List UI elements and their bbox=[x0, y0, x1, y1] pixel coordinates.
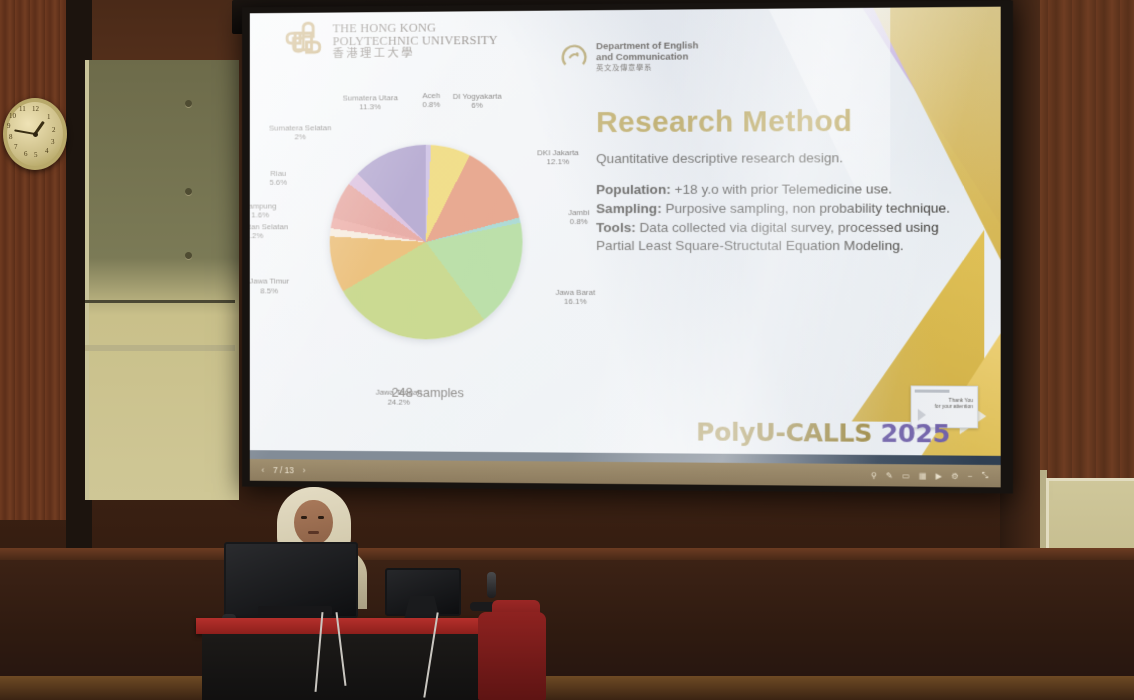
slide-bullet: Sampling: Purposive sampling, non probab… bbox=[596, 199, 978, 218]
slide-control-bar[interactable]: ‹ 7 / 13 › ⚲✎▭▦▶⚙−⤡ bbox=[250, 459, 1001, 487]
pie-chart: Aceh0.8%DI Yogyakarta6%DKI Jakarta12.1%J… bbox=[265, 96, 590, 426]
dept-wordmark: Department of English and Communication … bbox=[596, 41, 698, 73]
next-slide-icon[interactable]: › bbox=[303, 465, 306, 475]
brand-purple-part: 2025 bbox=[881, 419, 950, 449]
pie-slice-label: Sumatera Utara11.3% bbox=[326, 93, 414, 112]
event-brand: PolyU-CALLS 2025 bbox=[696, 417, 950, 448]
brand-gold-part: PolyU-CALLS bbox=[696, 417, 880, 447]
slide-content: THE HONG KONG POLYTECHNIC UNIVERSITY 香港理… bbox=[250, 7, 1001, 465]
bullet-label: Sampling: bbox=[596, 201, 662, 216]
slide-navigation[interactable]: ‹ 7 / 13 › bbox=[261, 465, 305, 475]
pie-slice-value: 5.6% bbox=[250, 178, 322, 187]
pie-graphic bbox=[330, 144, 523, 339]
polyu-wordmark: THE HONG KONG POLYTECHNIC UNIVERSITY 香港理… bbox=[333, 19, 498, 61]
pie-slice-label: Jawa Barat16.1% bbox=[531, 288, 621, 307]
pie-slice-label: Sumatera Selatan2% bbox=[256, 123, 344, 142]
lecture-hall-scene: 12 1 2 3 4 5 6 7 8 9 10 11 bbox=[0, 0, 1134, 700]
presenter-face bbox=[294, 500, 333, 545]
pie-slice-value: 16.1% bbox=[531, 297, 621, 306]
slide-bullet-list: Population: +18 y.o with prior Telemedic… bbox=[596, 180, 978, 255]
pie-slice-name: Lampung bbox=[250, 201, 277, 210]
slide-bullet: Population: +18 y.o with prior Telemedic… bbox=[596, 180, 978, 199]
projection-screen: THE HONG KONG POLYTECHNIC UNIVERSITY 香港理… bbox=[242, 0, 1013, 493]
board-ledge bbox=[85, 345, 235, 351]
pie-slice-value: 11.3% bbox=[326, 102, 414, 112]
bullet-text: Data collected via digital survey, proce… bbox=[596, 220, 939, 253]
pie-slice-name: Riau bbox=[270, 169, 286, 178]
pie-slice-name: Jawa Barat bbox=[555, 288, 595, 297]
secondary-monitor-stand bbox=[404, 596, 440, 620]
pie-slice-value: 1.2% bbox=[250, 231, 298, 240]
pie-label-layer: Aceh0.8%DI Yogyakarta6%DKI Jakarta12.1%J… bbox=[265, 96, 590, 98]
dept-chinese: 英文及傳意學系 bbox=[596, 64, 698, 73]
dept-line2: and Communication bbox=[596, 52, 698, 63]
pie-slice-label: Kalimantan Selatan1.2% bbox=[250, 222, 298, 240]
pie-slice-name: Kalimantan Selatan bbox=[250, 222, 288, 231]
pie-slice-value: 8.5% bbox=[250, 286, 313, 295]
bullet-text: Purposive sampling, non probability tech… bbox=[662, 201, 950, 217]
present-icon[interactable]: ▶ bbox=[936, 471, 942, 480]
pie-slice-label: Lampung1.6% bbox=[250, 201, 304, 219]
page-title: Research Method bbox=[596, 104, 978, 140]
wall-clock: 12 1 2 3 4 5 6 7 8 9 10 11 bbox=[3, 98, 67, 170]
slide-subtitle: Quantitative descriptive research design… bbox=[596, 150, 978, 166]
slide-text-block: Research Method Quantitative descriptive… bbox=[596, 104, 978, 256]
chair bbox=[478, 612, 546, 700]
pie-slice-label: DKI Jakarta12.1% bbox=[513, 148, 602, 167]
pie-slice-label: DI Yogyakarta6% bbox=[433, 91, 522, 110]
floor-strip bbox=[0, 676, 1134, 700]
left-wood-column bbox=[0, 0, 66, 520]
pie-slice-name: Sumatera Selatan bbox=[269, 123, 331, 132]
viewer-toolbar[interactable]: ⚲✎▭▦▶⚙−⤡ bbox=[871, 470, 989, 481]
slide-page-indicator: 7 / 13 bbox=[273, 465, 294, 475]
pie-slice-label: Jawa Timur8.5% bbox=[250, 277, 313, 295]
minus-icon[interactable]: − bbox=[968, 471, 973, 480]
pie-slice-name: Sumatera Utara bbox=[343, 93, 398, 102]
polyu-line2: POLYTECHNIC UNIVERSITY bbox=[333, 34, 498, 48]
pie-slice-name: DKI Jakarta bbox=[537, 148, 579, 157]
pie-slice-name: Jambi bbox=[568, 208, 589, 217]
grid-icon[interactable]: ▦ bbox=[919, 471, 927, 480]
prev-slide-icon[interactable]: ‹ bbox=[261, 465, 264, 475]
frame-icon[interactable]: ▭ bbox=[902, 471, 910, 480]
pie-slice-value: 6% bbox=[433, 101, 522, 111]
slide-header-logos: THE HONG KONG POLYTECHNIC UNIVERSITY 香港理… bbox=[283, 17, 699, 75]
board-seam bbox=[85, 300, 235, 303]
slide-bullet: Tools: Data collected via digital survey… bbox=[596, 219, 978, 256]
pie-slice-value: 2% bbox=[256, 132, 344, 142]
expand-icon[interactable]: ⤡ bbox=[982, 471, 989, 481]
department-logo-group: Department of English and Communication … bbox=[559, 41, 698, 73]
bullet-label: Population: bbox=[596, 182, 671, 197]
polyu-knot-icon bbox=[283, 21, 324, 63]
left-wall-board bbox=[85, 60, 239, 500]
bullet-label: Tools: bbox=[596, 220, 636, 235]
pie-slice-label: Riau5.6% bbox=[250, 169, 322, 188]
thumbnail-subtitle: for your attention bbox=[935, 404, 973, 410]
lectern-desk-top bbox=[196, 618, 526, 634]
search-icon[interactable]: ⚲ bbox=[871, 471, 877, 480]
polyu-chinese: 香港理工大學 bbox=[333, 48, 498, 61]
pie-slice-value: 12.1% bbox=[513, 157, 602, 167]
pen-icon[interactable]: ✎ bbox=[886, 471, 893, 480]
microphone bbox=[487, 572, 496, 598]
pie-slice-name: Jawa Timur bbox=[250, 277, 289, 286]
pie-slice-value: 1.6% bbox=[250, 210, 304, 219]
pie-slice-name: DI Yogyakarta bbox=[453, 92, 502, 101]
lectern-desk-front bbox=[202, 634, 520, 700]
bullet-text: +18 y.o with prior Telemedicine use. bbox=[671, 181, 892, 197]
gear-icon[interactable]: ⚙ bbox=[951, 471, 958, 480]
dept-swirl-icon bbox=[559, 42, 589, 72]
polyu-logo-group: THE HONG KONG POLYTECHNIC UNIVERSITY 香港理… bbox=[283, 19, 498, 62]
sample-count-note: 248 samples bbox=[349, 385, 506, 401]
